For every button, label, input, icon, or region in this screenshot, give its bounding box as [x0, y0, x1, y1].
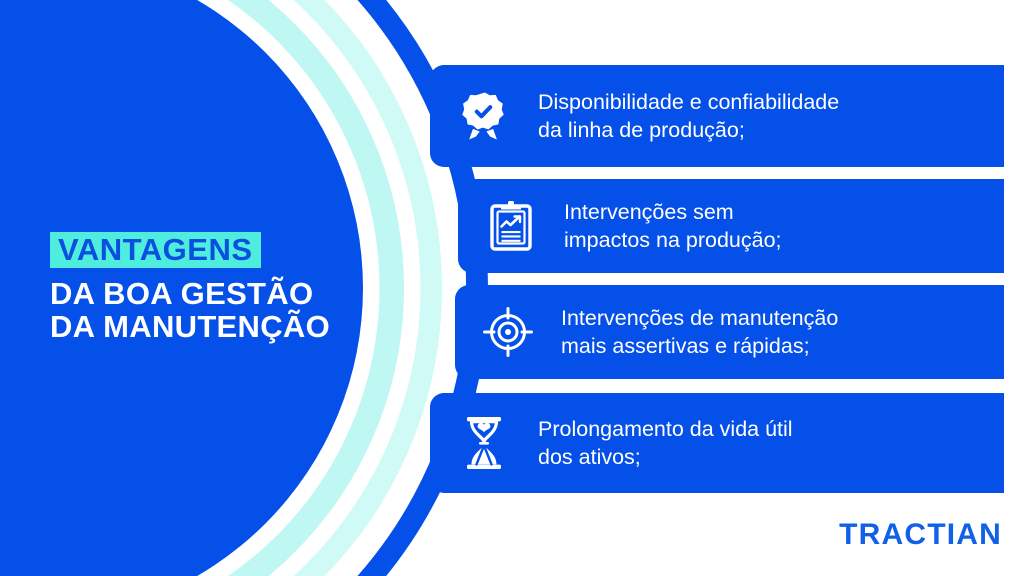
hourglass-heart-icon	[430, 416, 538, 470]
tractian-logo: TRACTIAN	[839, 518, 1002, 552]
benefit-card-no-impact[interactable]: Intervenções sem impactos na produção;	[458, 179, 1004, 273]
benefit-card-text: Prolongamento da vida útil dos ativos;	[538, 415, 809, 472]
clipboard-chart-icon	[458, 200, 564, 252]
target-crosshair-icon	[455, 307, 561, 357]
page-title-line-1: DA BOA GESTÃO	[50, 277, 380, 310]
kicker-highlight: VANTAGENS	[50, 232, 261, 268]
benefit-text-line-1: Prolongamento da vida útil	[538, 415, 793, 443]
kicker-text: VANTAGENS	[58, 234, 253, 265]
benefit-card-text: Disponibilidade e confiabilidade da linh…	[538, 88, 855, 145]
benefit-text-line-2: impactos na produção;	[564, 226, 782, 254]
benefit-text-line-2: mais assertivas e rápidas;	[561, 332, 838, 360]
benefit-card-text: Intervenções sem impactos na produção;	[564, 198, 798, 255]
slide-canvas: VANTAGENS DA BOA GESTÃO DA MANUTENÇÃO Di…	[0, 0, 1024, 576]
benefit-text-line-1: Intervenções de manutenção	[561, 304, 838, 332]
benefit-text-line-2: dos ativos;	[538, 443, 793, 471]
benefit-card-text: Intervenções de manutenção mais assertiv…	[561, 304, 854, 361]
benefit-card-availability[interactable]: Disponibilidade e confiabilidade da linh…	[430, 65, 1004, 167]
benefit-text-line-1: Disponibilidade e confiabilidade	[538, 88, 839, 116]
award-badge-check-icon	[430, 91, 538, 141]
benefit-card-assertive[interactable]: Intervenções de manutenção mais assertiv…	[455, 285, 1004, 379]
benefit-text-line-1: Intervenções sem	[564, 198, 782, 226]
benefit-card-asset-life[interactable]: Prolongamento da vida útil dos ativos;	[430, 393, 1004, 493]
benefit-text-line-2: da linha de produção;	[538, 116, 839, 144]
title-block: VANTAGENS DA BOA GESTÃO DA MANUTENÇÃO	[50, 232, 380, 344]
page-title-line-2: DA MANUTENÇÃO	[50, 310, 380, 343]
